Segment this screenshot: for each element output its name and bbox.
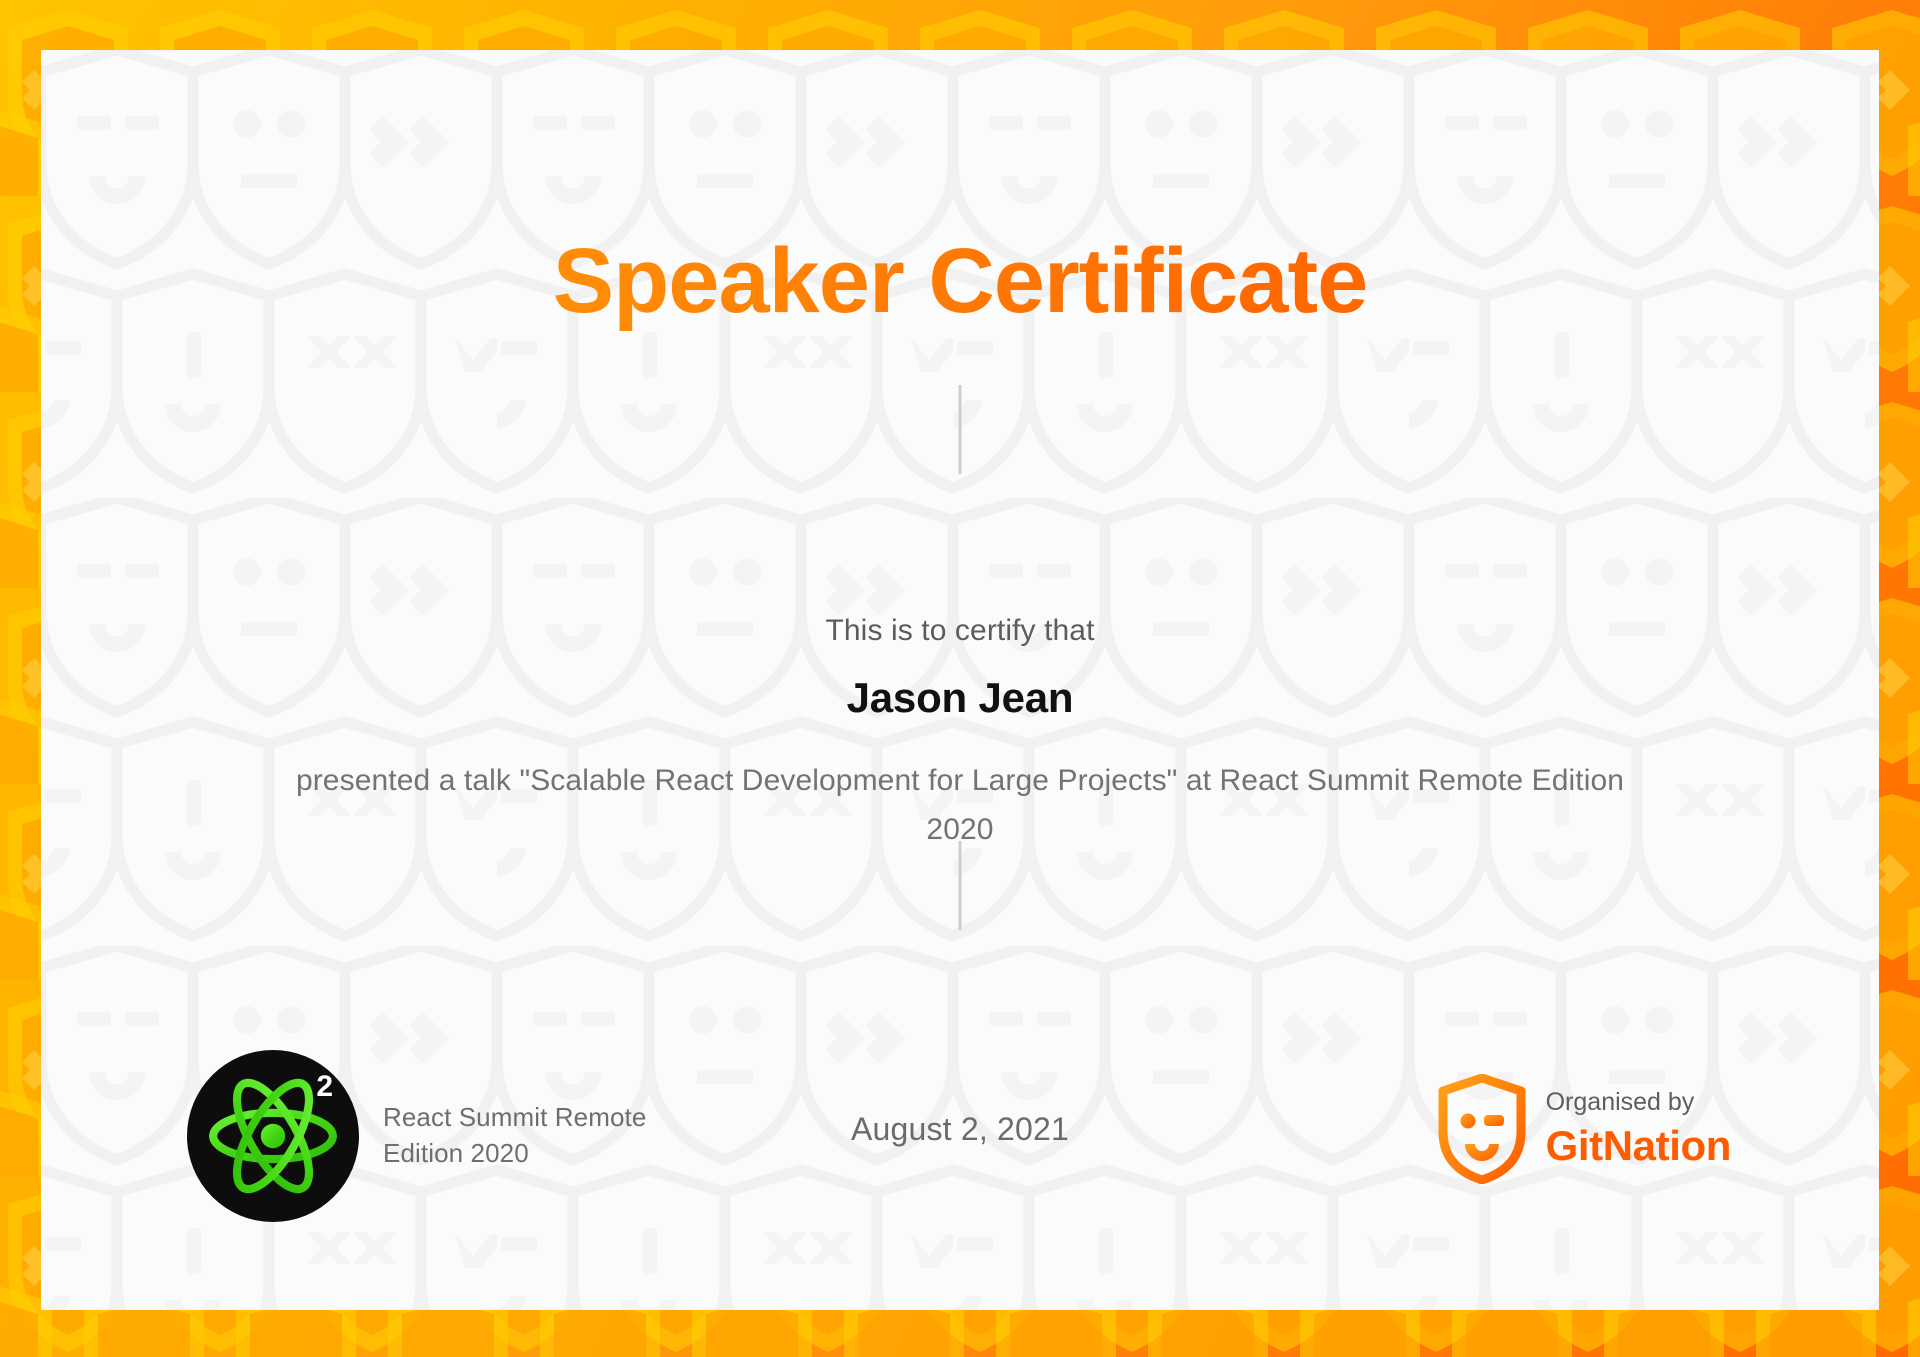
certificate: Speaker Certificate This is to certify t… — [0, 0, 1920, 1357]
organiser-name: GitNation — [1546, 1123, 1731, 1169]
page-title: Speaker Certificate — [41, 232, 1879, 331]
react-badge-superscript: 2 — [316, 1072, 333, 1102]
certify-line: This is to certify that — [41, 614, 1879, 648]
certificate-page: Speaker Certificate This is to certify t… — [41, 50, 1879, 1310]
recipient-name: Jason Jean — [41, 674, 1879, 722]
divider-top — [959, 385, 962, 474]
certificate-footer: 2 React Summit Remote Edition 2020 Augus… — [41, 1050, 1879, 1220]
organiser-block: Organised by GitNation — [1438, 1074, 1731, 1184]
talk-statement: presented a talk "Scalable React Develop… — [281, 757, 1639, 854]
divider-bottom — [959, 841, 962, 930]
organised-by-label: Organised by — [1546, 1089, 1731, 1117]
gitnation-shield-face-icon — [1438, 1074, 1526, 1184]
